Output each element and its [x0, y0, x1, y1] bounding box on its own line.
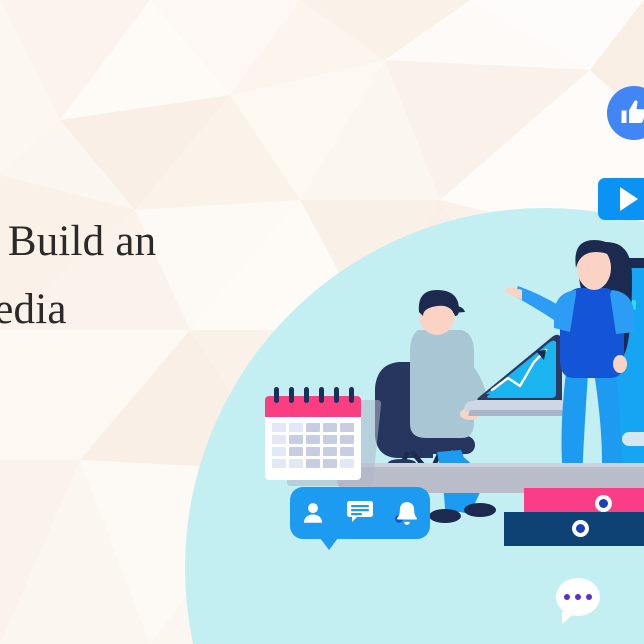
thumbs-up-icon: [619, 98, 644, 128]
calendar-icon: [265, 392, 365, 480]
page-title: teps to Build an cial Media 2019: [0, 208, 352, 412]
banner-image: teps to Build an cial Media 2019: [0, 0, 644, 644]
play-icon: [620, 187, 638, 211]
laptop: [464, 335, 566, 416]
calendar-header: [265, 396, 361, 417]
calendar-ring: [274, 387, 279, 403]
notification-pill: [290, 487, 430, 539]
user-icon: [300, 500, 326, 526]
folder-dot-navy: [572, 520, 589, 537]
calendar-ring: [319, 387, 324, 403]
headline-line-2: cial Media: [0, 276, 352, 344]
calendar-ring: [289, 387, 294, 403]
bubble-dot: [575, 594, 581, 600]
calendar-ring: [334, 387, 339, 403]
chat-icon: [345, 500, 375, 526]
calendar-ring: [304, 387, 309, 403]
bubble-dot: [564, 594, 570, 600]
bubble-dot: [586, 594, 592, 600]
headline-line-1: teps to Build an: [0, 208, 352, 276]
bell-icon: [394, 500, 420, 526]
video-badge: [598, 178, 644, 220]
folder-dot-pink: [595, 495, 612, 512]
typing-bubble: [556, 578, 600, 616]
calendar-grid: [272, 423, 354, 468]
calendar-ring: [349, 387, 354, 403]
